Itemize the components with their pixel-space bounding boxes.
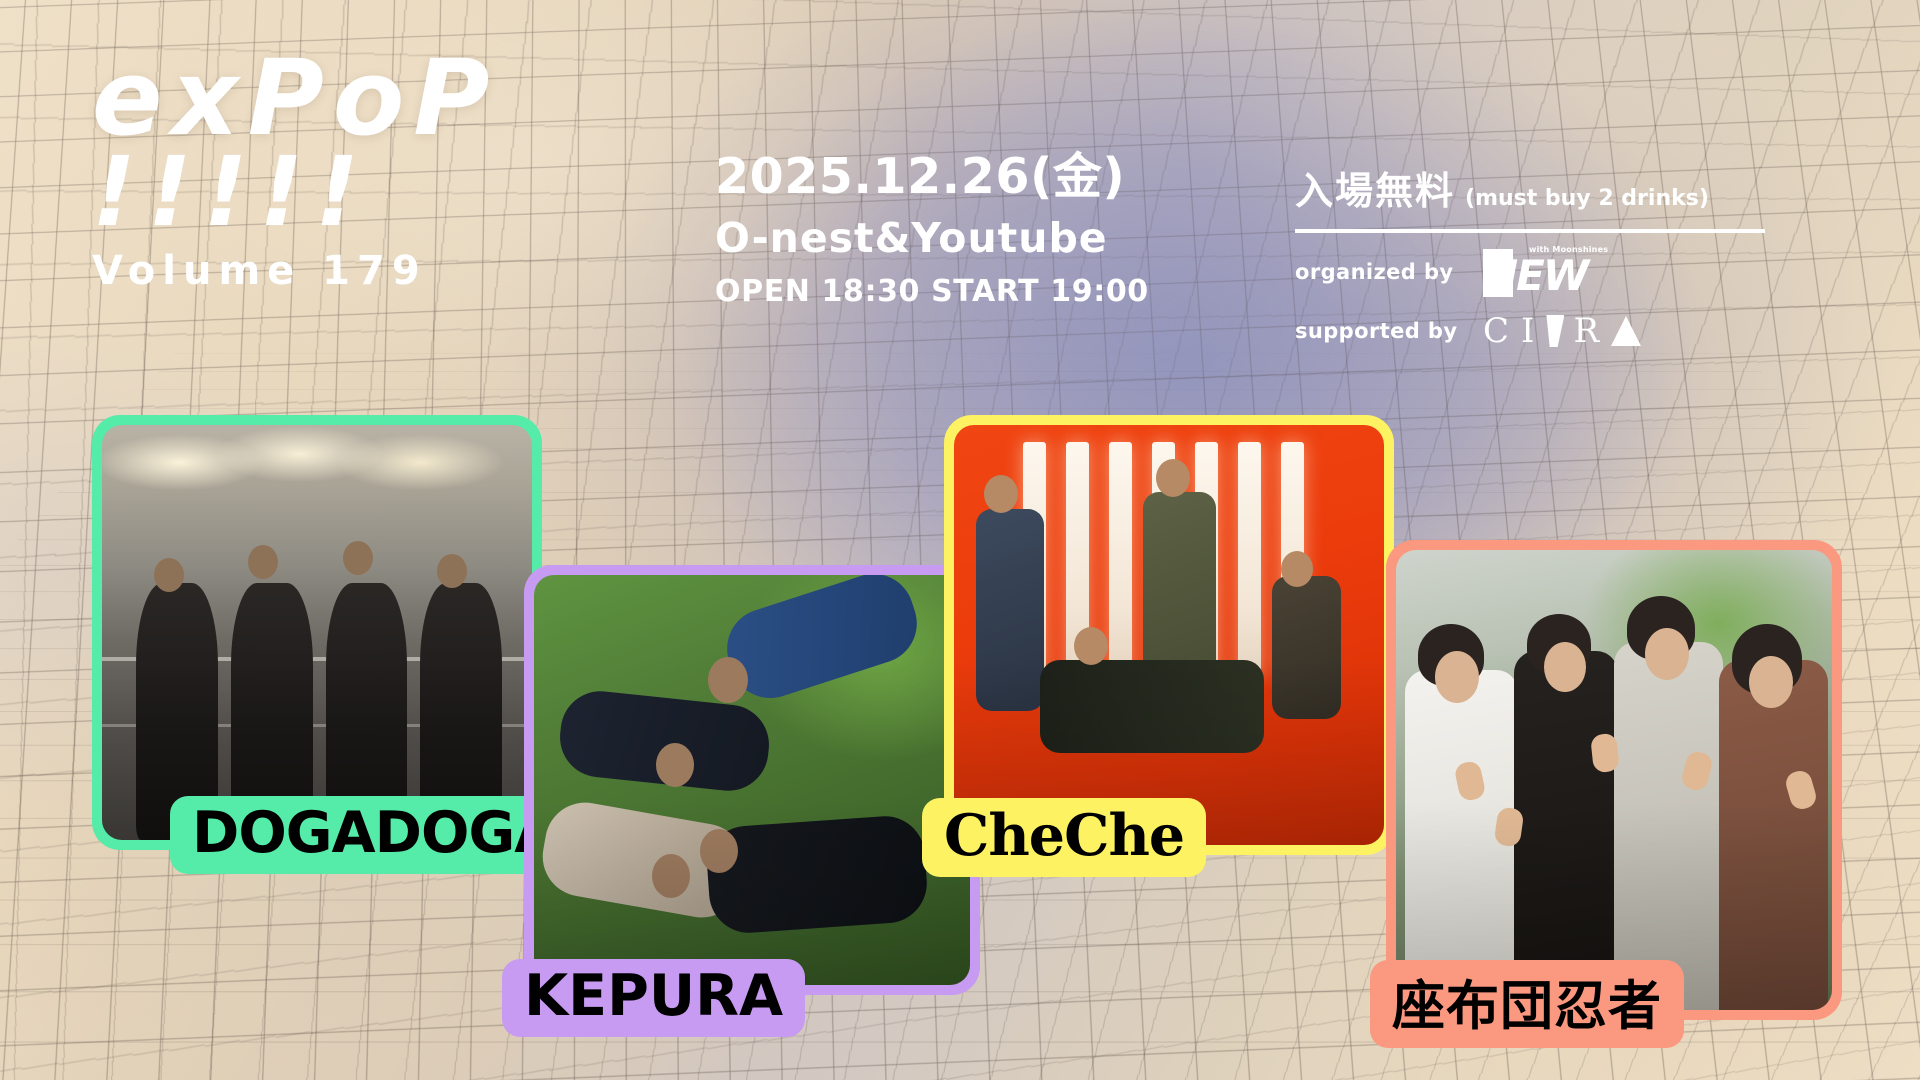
band-member — [1272, 576, 1341, 719]
band-photo-kepura — [534, 575, 970, 985]
band-member-head — [1544, 642, 1586, 692]
organized-by-label: organized by — [1295, 260, 1463, 284]
event-flyer: exPoP !!!!! Volume 179 2025.12.26(金) O-n… — [0, 0, 1920, 1080]
band-member — [717, 575, 927, 709]
band-member-head — [1749, 656, 1793, 708]
band-member-head — [343, 541, 373, 575]
lineup-card-cheche[interactable]: CheChe — [944, 415, 1394, 855]
admission-free-label: 入場無料 — [1295, 160, 1455, 215]
band-member — [705, 814, 930, 936]
admission-credits: 入場無料 (must buy 2 drinks) organized by wi… — [1295, 160, 1765, 365]
band-name-tag-zabuton-ninja: 座布団忍者 — [1370, 960, 1684, 1048]
band-photo-zabuton-ninja — [1396, 550, 1832, 1010]
band-member-head — [656, 743, 694, 787]
brand-logo: exPoP !!!!! Volume 179 — [92, 52, 499, 294]
volume-label: Volume 179 — [92, 248, 499, 294]
drinks-note: (must buy 2 drinks) — [1465, 186, 1709, 215]
divider-rule — [1295, 229, 1765, 233]
event-date: 2025.12.26(金) — [715, 150, 1149, 205]
band-member — [1514, 651, 1619, 1010]
brand-exclamations: !!!!! — [92, 148, 499, 236]
peace-hand — [1590, 733, 1620, 774]
supported-by-label: supported by — [1295, 319, 1463, 343]
band-member-head — [248, 545, 278, 579]
band-member-head — [1281, 551, 1313, 587]
band-member-head — [154, 558, 184, 592]
band-photo-cheche — [954, 425, 1384, 845]
lineup-card-dogadoga[interactable]: DOGADOGA — [92, 415, 542, 850]
new-logo: with Moonshines NEW — [1483, 247, 1611, 297]
event-times: OPEN 18:30 START 19:00 — [715, 274, 1149, 309]
lineup-card-kepura[interactable]: KEPURA — [524, 565, 980, 995]
band-member-head — [1074, 627, 1108, 665]
band-name-tag-kepura: KEPURA — [502, 959, 805, 1037]
cinra-logo: C I R — [1483, 311, 1641, 351]
lineup-card-zabuton-ninja[interactable]: 座布団忍者 — [1386, 540, 1842, 1020]
band-member — [976, 509, 1045, 711]
band-member-head — [708, 657, 748, 703]
new-logo-wordmark: NEW — [1483, 255, 1587, 297]
band-member — [1719, 660, 1828, 1010]
band-member-head — [1645, 628, 1689, 680]
band-name-tag-cheche: CheChe — [922, 798, 1206, 877]
cinra-letter-i: I — [1521, 311, 1537, 351]
brand-title: exPoP — [92, 52, 499, 146]
supported-by-row: supported by C I R — [1295, 311, 1765, 351]
cinra-letter-c: C — [1483, 311, 1512, 351]
band-member — [1614, 642, 1723, 1010]
cinra-letter-n — [1546, 315, 1564, 347]
event-venue: O-nest&Youtube — [715, 214, 1149, 262]
band-member-head — [700, 829, 738, 873]
band-member-head — [437, 554, 467, 588]
light-bar — [1109, 442, 1133, 677]
cinra-letter-r: R — [1573, 311, 1602, 351]
band-name-tag-dogadoga: DOGADOGA — [170, 796, 579, 874]
cinra-letter-a — [1611, 316, 1641, 346]
organized-by-row: organized by with Moonshines NEW — [1295, 247, 1765, 297]
band-member-head — [652, 854, 690, 898]
band-member — [1040, 660, 1264, 752]
band-member-head — [1156, 459, 1190, 497]
light-bar — [1238, 442, 1262, 677]
band-photo-dogadoga — [102, 425, 532, 840]
event-info: 2025.12.26(金) O-nest&Youtube OPEN 18:30 … — [715, 150, 1149, 309]
band-member-head — [984, 475, 1018, 513]
